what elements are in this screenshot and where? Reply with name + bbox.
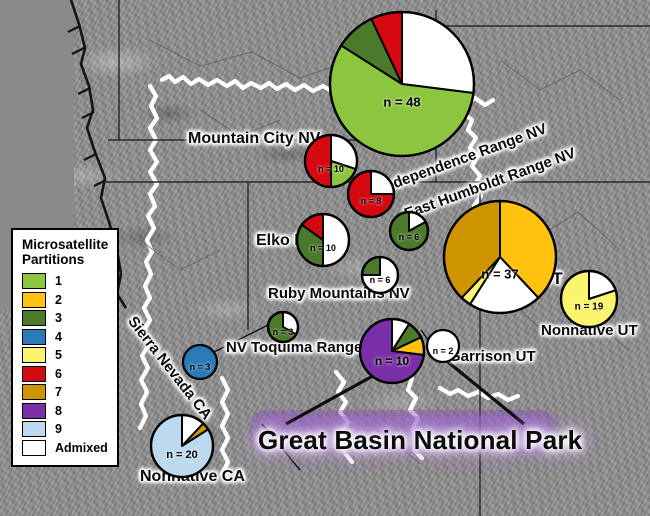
legend-label: Admixed	[55, 441, 108, 455]
pie-sample-size-label: n = 3	[273, 327, 294, 337]
pie-sample-size-label: n = 19	[575, 302, 604, 313]
legend-title-line2: Partitions	[22, 252, 109, 267]
legend-item: 1	[22, 272, 109, 291]
legend-swatch	[22, 366, 46, 382]
legend-swatch	[22, 384, 46, 400]
pie-slice	[323, 214, 349, 266]
legend-swatch	[22, 347, 46, 363]
pie-sample-size-label: n = 6	[370, 275, 391, 285]
legend-swatch	[22, 403, 46, 419]
legend-panel: Microsatellite Partitions 123456789Admix…	[11, 228, 119, 467]
pie-sample-size-label: n = 10	[375, 354, 409, 368]
pie-sample-size-label: n = 8	[361, 196, 382, 206]
pie-sample-size-label: n = 20	[166, 449, 198, 461]
pie-sample-size-label: n = 3	[190, 362, 211, 372]
pie-chart: n = 19	[557, 267, 621, 331]
legend-label: 9	[55, 422, 62, 436]
pie-chart: n = 10	[293, 210, 353, 270]
pie-chart: n = 37	[440, 197, 560, 317]
legend-swatch	[22, 273, 46, 289]
legend-swatch	[22, 329, 46, 345]
legend-label: 8	[55, 404, 62, 418]
pie-sample-size-label: n = 10	[310, 243, 336, 253]
legend-item: 4	[22, 328, 109, 347]
legend-label: 1	[55, 274, 62, 288]
pie-sample-size-label: n = 10	[318, 164, 344, 174]
pie-chart: n = 3	[179, 341, 221, 383]
legend-item: Admixed	[22, 439, 109, 458]
legend-item: 5	[22, 346, 109, 365]
legend-swatch	[22, 421, 46, 437]
legend-label: 2	[55, 293, 62, 307]
legend-label: 3	[55, 311, 62, 325]
pie-chart: n = 6	[386, 208, 432, 254]
pie-chart: n = 10	[356, 315, 428, 387]
legend-item: 7	[22, 383, 109, 402]
legend-swatch	[22, 310, 46, 326]
pie-sample-size-label: n = 2	[433, 346, 454, 356]
pie-chart: n = 3	[264, 308, 302, 346]
legend-item: 2	[22, 291, 109, 310]
legend-items: 123456789Admixed	[22, 272, 109, 457]
pie-sample-size-label: n = 37	[481, 266, 518, 281]
legend-item: 9	[22, 420, 109, 439]
pie-chart: n = 20	[147, 411, 217, 481]
legend-label: 4	[55, 330, 62, 344]
legend-label: 5	[55, 348, 62, 362]
legend-swatch	[22, 440, 46, 456]
legend-label: 6	[55, 367, 62, 381]
legend-item: 6	[22, 365, 109, 384]
pie-slice	[305, 135, 331, 187]
legend-title-line1: Microsatellite	[22, 237, 109, 252]
map-figure: Mountain City NVIdahoIndependence Range …	[0, 0, 650, 516]
legend-label: 7	[55, 385, 62, 399]
legend-item: 3	[22, 309, 109, 328]
pie-chart: n = 2	[423, 326, 463, 366]
coast-hatch-ticks	[68, 26, 106, 186]
legend-title: Microsatellite Partitions	[22, 237, 109, 267]
pie-slice	[402, 12, 474, 93]
pie-sample-size-label: n = 6	[399, 232, 420, 242]
pie-chart: n = 6	[358, 253, 402, 297]
pie-sample-size-label: n = 48	[383, 95, 420, 110]
legend-swatch	[22, 292, 46, 308]
legend-item: 8	[22, 402, 109, 421]
park-title-label: Great Basin National Park	[258, 425, 582, 456]
